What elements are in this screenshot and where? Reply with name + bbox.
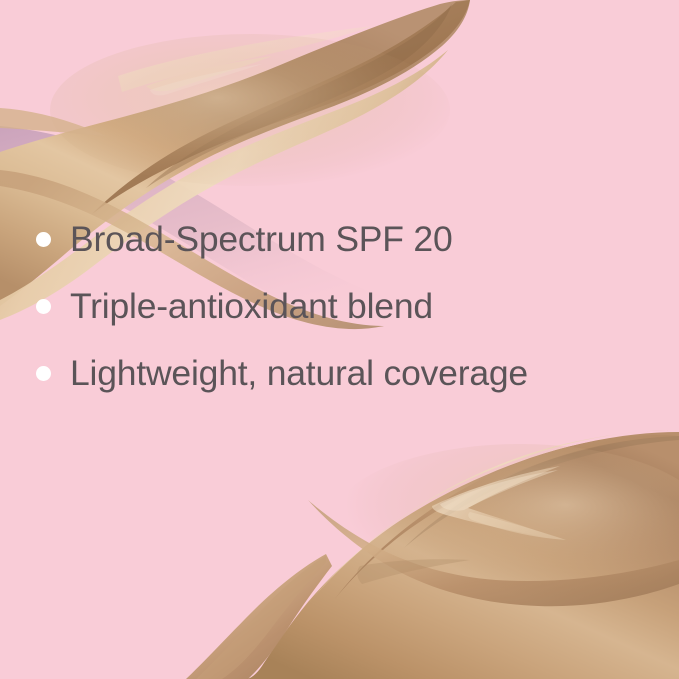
bullet-dot-icon	[36, 366, 51, 381]
product-feature-banner: Broad-Spectrum SPF 20 Triple-antioxidant…	[0, 0, 679, 679]
feature-label: Lightweight, natural coverage	[70, 356, 528, 392]
feature-label: Triple-antioxidant blend	[70, 289, 433, 325]
bullet-dot-icon	[36, 232, 51, 247]
feature-item-coverage: Lightweight, natural coverage	[0, 340, 679, 407]
feature-item-antioxidant: Triple-antioxidant blend	[0, 273, 679, 340]
feature-label: Broad-Spectrum SPF 20	[70, 222, 453, 258]
feature-list: Broad-Spectrum SPF 20 Triple-antioxidant…	[0, 206, 679, 407]
bullet-dot-icon	[36, 299, 51, 314]
feature-item-spf: Broad-Spectrum SPF 20	[0, 206, 679, 273]
foundation-smear-bottom	[186, 430, 679, 679]
